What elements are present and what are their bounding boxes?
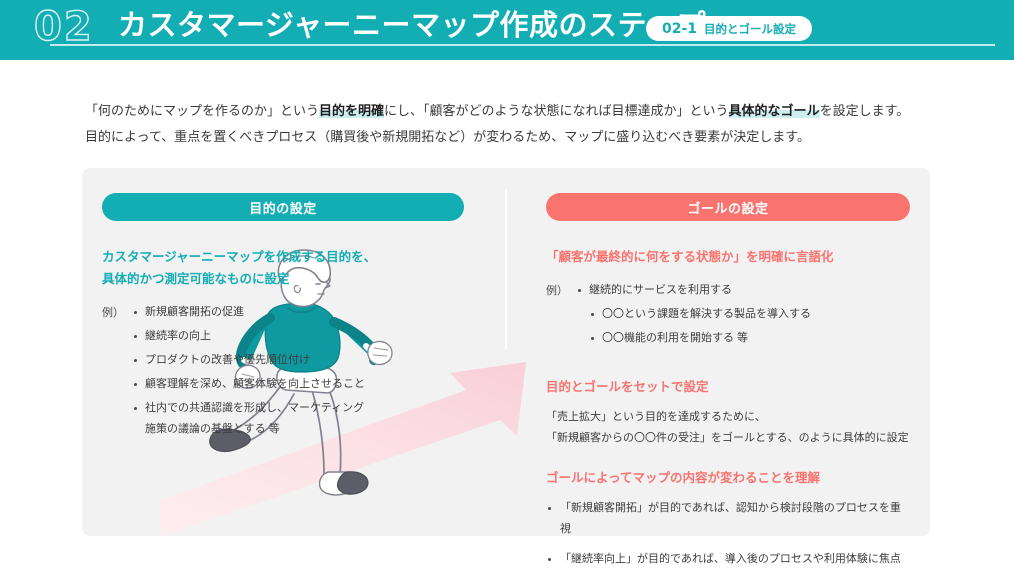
list-item: 社内での共通認識を形成し、マーケティング 施策の議論の基盤とする 等 [132,398,464,440]
panel-divider [505,190,507,349]
list-item: 継続的にサービスを利用する [576,280,910,301]
lead-line-2: 目的によって、重点を置くべきプロセス（購買後や新規開拓など）が変わるため、マップ… [85,124,945,150]
header-section-number: 02 [34,5,94,49]
status-badge: 02-1 目的とゴール設定 [646,16,812,41]
slide-header: 02 カスタマージャーニーマップ作成のステップ 02-1 目的とゴール設定 [0,0,1014,60]
badge-label: 目的とゴール設定 [704,21,796,37]
lead-line-1: 「何のためにマップを作るのか」という目的を明確にし、「顧客がどのような状態になれ… [85,98,945,124]
right-block1-example: 例） 継続的にサービスを利用する 〇〇という課題を解決する製品を導入する 〇〇機… [546,280,910,352]
right-block3-bullet-list: 「新規顧客開拓」が目的であれば、認知から検討段階のプロセスを重視 「継続率向上」… [546,498,910,568]
list-item-line-1: 「継続率向上」が目的であれば、導入後のプロセスや利用体験に焦点を [560,553,901,568]
slide: 02 カスタマージャーニーマップ作成のステップ 02-1 目的とゴール設定 「何… [0,0,1014,568]
lead-emphasis-2: 具体的なゴール [729,103,820,118]
list-item: 「新規顧客開拓」が目的であれば、認知から検討段階のプロセスを重視 [546,498,910,540]
list-item: 継続率の向上 [132,326,464,347]
left-example-label: 例） [102,302,132,440]
right-column: ゴールの設定 「顧客が最終的に何をする状態か」を明確に言語化 例） 継続的にサー… [546,193,910,568]
list-item: 顧客理解を深め、顧客体験を向上させること [132,374,464,395]
left-heading-line-1: カスタマージャーニーマップを作成する目的を、 [102,246,464,268]
right-section-pill: ゴールの設定 [546,193,910,221]
right-block2-body: 「売上拡大」という目的を達成するために、 「新規顧客からの〇〇件の受注」をゴール… [546,407,910,449]
left-column: 目的の設定 カスタマージャーニーマップを作成する目的を、 具体的かつ測定可能なも… [102,193,464,440]
right-block3-heading: ゴールによってマップの内容が変わることを理解 [546,467,910,489]
right-block1-heading: 「顧客が最終的に何をする状態か」を明確に言語化 [546,246,910,268]
right-block2-line-2: 「新規顧客からの〇〇件の受注」をゴールとする、のように具体的に設定 [546,428,910,449]
list-item: 〇〇機能の利用を開始する 等 [576,328,910,349]
lead-paragraph: 「何のためにマップを作るのか」という目的を明確にし、「顧客がどのような状態になれ… [85,98,945,150]
page-title: カスタマージャーニーマップ作成のステップ [118,6,706,46]
left-heading-line-2: 具体的かつ測定可能なものに設定 [102,268,464,290]
list-item-line-2: 施策の議論の基盤とする 等 [145,423,280,435]
lead-text-b: にし、「顧客がどのような状態になれば目標達成か」という [384,103,729,118]
right-example-label: 例） [546,280,576,352]
left-section-pill: 目的の設定 [102,193,464,221]
lead-text-a: 「何のためにマップを作るのか」という [85,103,319,118]
list-item: 「継続率向上」が目的であれば、導入後のプロセスや利用体験に焦点を 当てて作成 [546,549,910,568]
list-item-line-1: 社内での共通認識を形成し、マーケティング [145,402,364,414]
lead-text-c: を設定します。 [820,103,910,118]
left-heading: カスタマージャーニーマップを作成する目的を、 具体的かつ測定可能なものに設定 [102,246,464,290]
list-item: 〇〇という課題を解決する製品を導入する [576,304,910,325]
badge-number: 02-1 [662,21,697,37]
list-item: 新規顧客開拓の促進 [132,302,464,323]
right-block2-line-1: 「売上拡大」という目的を達成するために、 [546,407,910,428]
left-example-block: 例） 新規顧客開拓の促進 継続率の向上 プロダクトの改善や優先順位付け 顧客理解… [102,302,464,440]
left-bullet-list: 新規顧客開拓の促進 継続率の向上 プロダクトの改善や優先順位付け 顧客理解を深め… [132,302,464,440]
lead-emphasis-1: 目的を明確 [319,103,384,118]
right-block2-heading: 目的とゴールをセットで設定 [546,376,910,398]
list-item: プロダクトの改善や優先順位付け [132,350,464,371]
right-block1-bullet-list: 継続的にサービスを利用する 〇〇という課題を解決する製品を導入する 〇〇機能の利… [576,280,910,352]
